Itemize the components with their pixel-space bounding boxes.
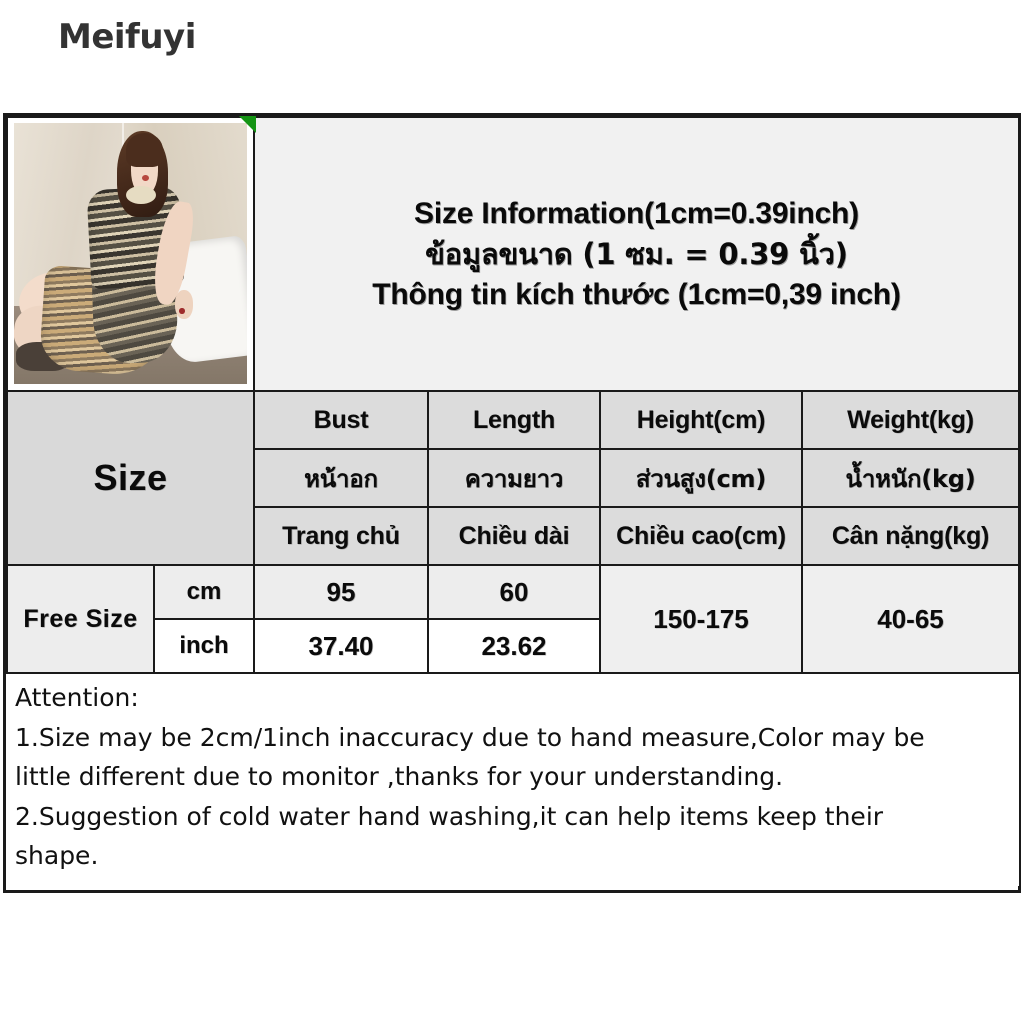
header-height-en: Height(cm) xyxy=(600,391,802,449)
value-height-range: 150-175 xyxy=(600,565,802,673)
title-line-thai: ข้อมูลขนาด (1 ซม. = 0.39 นิ้ว) xyxy=(265,234,1008,274)
header-height-vi: Chiều cao(cm) xyxy=(600,507,802,565)
product-photo-frame xyxy=(8,118,253,390)
value-length-inch: 23.62 xyxy=(428,619,600,673)
unit-cm: cm xyxy=(154,565,254,619)
size-info-title-lines: Size Information(1cm=0.39inch) ข้อมูลขนา… xyxy=(255,185,1018,324)
photo-neckline xyxy=(126,186,156,204)
header-weight-th: น้ำหนัก(kg) xyxy=(802,449,1019,507)
size-chart-table-frame: Size Information(1cm=0.39inch) ข้อมูลขนา… xyxy=(3,113,1021,893)
product-photo-cell xyxy=(7,117,254,391)
header-height-th: ส่วนสูง(cm) xyxy=(600,449,802,507)
photo-hand xyxy=(175,290,194,319)
value-length-cm: 60 xyxy=(428,565,600,619)
attention-line-1: 1.Size may be 2cm/1inch inaccuracy due t… xyxy=(15,718,1011,758)
header-length-th: ความยาว xyxy=(428,449,600,507)
table-row-cm: Free Size cm 95 60 150-175 40-65 xyxy=(7,565,1019,619)
attention-text: Attention: 1.Size may be 2cm/1inch inacc… xyxy=(7,674,1019,886)
header-weight-en: Weight(kg) xyxy=(802,391,1019,449)
attention-heading: Attention: xyxy=(15,678,1011,718)
unit-inch: inch xyxy=(154,619,254,673)
title-line-vietnamese: Thông tin kích thước (1cm=0,39 inch) xyxy=(265,274,1008,315)
free-size-label: Free Size xyxy=(7,565,154,673)
title-line-english: Size Information(1cm=0.39inch) xyxy=(265,193,1008,234)
header-bust-vi: Trang chủ xyxy=(254,507,428,565)
photo-nail xyxy=(179,308,184,314)
header-bust-th: หน้าอก xyxy=(254,449,428,507)
table-row-attention: Attention: 1.Size may be 2cm/1inch inacc… xyxy=(7,673,1019,886)
value-bust-inch: 37.40 xyxy=(254,619,428,673)
value-weight-range: 40-65 xyxy=(802,565,1019,673)
size-chart-page: Meifuyi xyxy=(0,0,1024,1024)
header-bust-en: Bust xyxy=(254,391,428,449)
table-row-title: Size Information(1cm=0.39inch) ข้อมูลขนา… xyxy=(7,117,1019,391)
size-info-title-cell: Size Information(1cm=0.39inch) ข้อมูลขนา… xyxy=(254,117,1019,391)
photo-hair-fringe xyxy=(126,133,163,167)
table-row-headers-english: Size Bust Length Height(cm) Weight(kg) xyxy=(7,391,1019,449)
attention-cell: Attention: 1.Size may be 2cm/1inch inacc… xyxy=(7,673,1019,886)
value-bust-cm: 95 xyxy=(254,565,428,619)
attention-line-3: 2.Suggestion of cold water hand washing,… xyxy=(15,797,1011,837)
header-length-en: Length xyxy=(428,391,600,449)
header-weight-vi: Cân nặng(kg) xyxy=(802,507,1019,565)
header-length-vi: Chiều dài xyxy=(428,507,600,565)
product-photo xyxy=(14,123,247,384)
size-table: Size Information(1cm=0.39inch) ข้อมูลขนา… xyxy=(6,116,1020,886)
brand-title: Meifuyi xyxy=(58,17,196,57)
size-label-cell: Size xyxy=(7,391,254,565)
attention-line-2: little different due to monitor ,thanks … xyxy=(15,757,1011,797)
attention-line-4: shape. xyxy=(15,836,1011,876)
green-corner-flag-icon xyxy=(239,116,256,133)
